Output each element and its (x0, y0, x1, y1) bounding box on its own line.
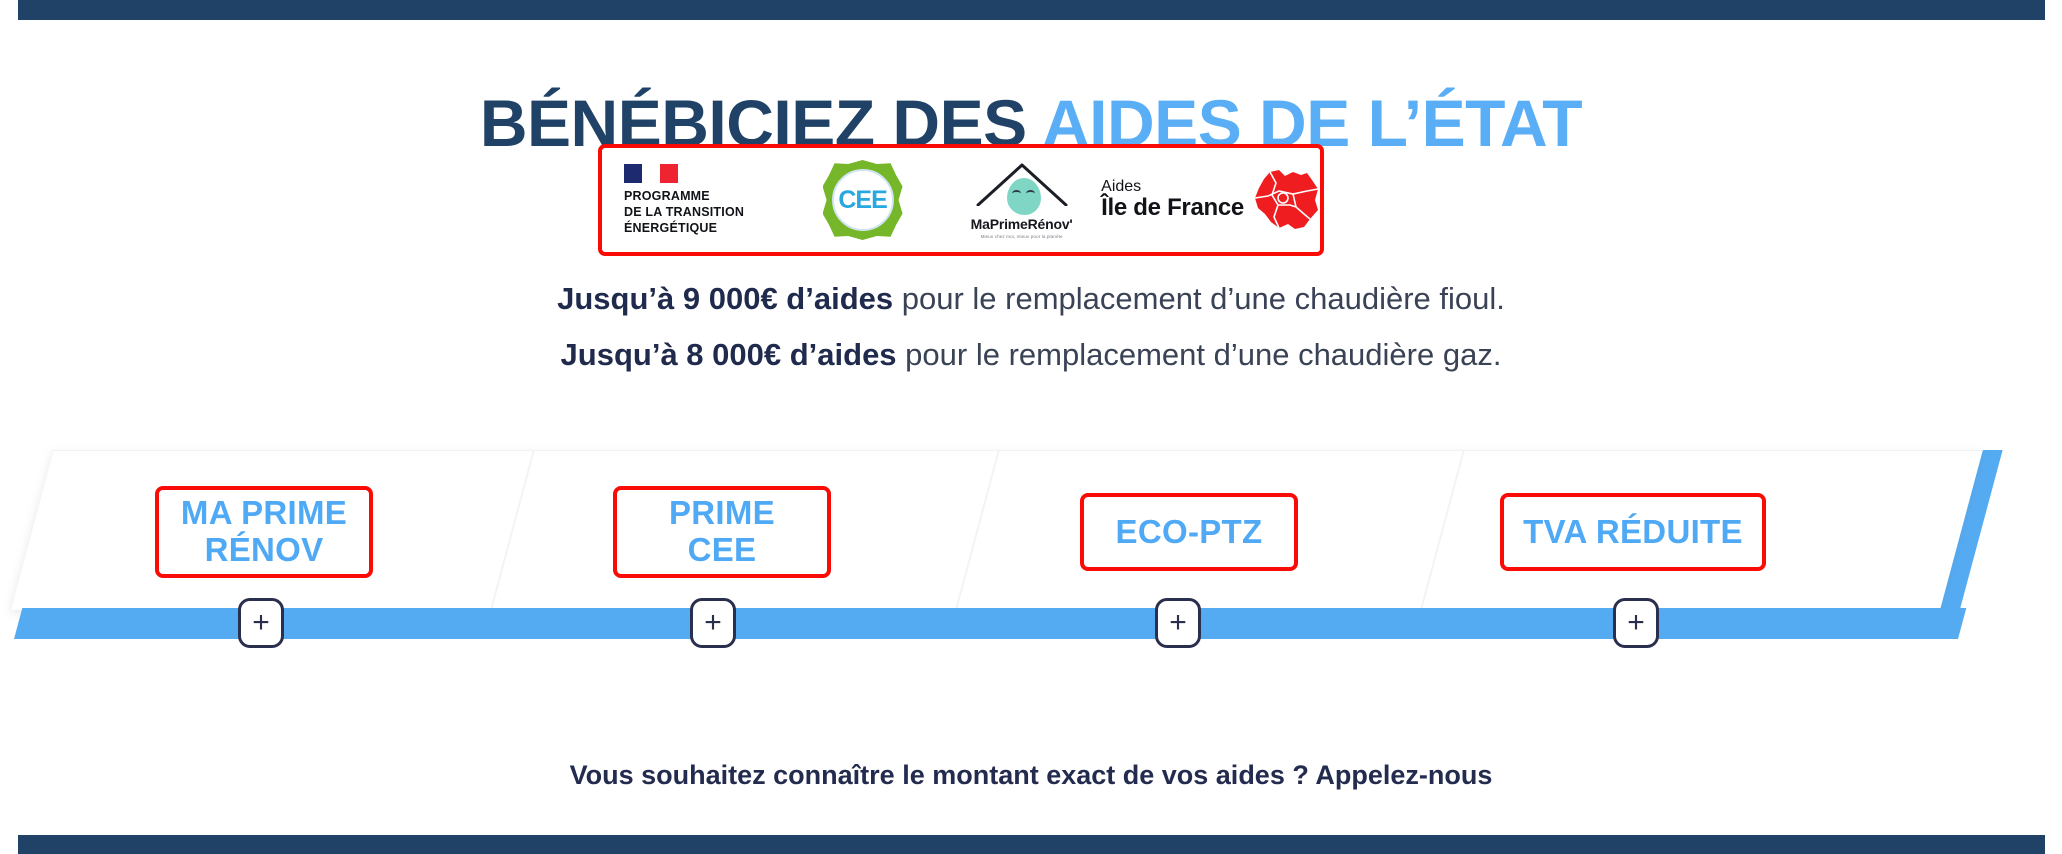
subtitle-2-amount: Jusqu’à 8 000€ d’aides (561, 337, 897, 372)
aid-option-eco-ptz[interactable]: ECO-PTZ (1080, 493, 1298, 571)
aid-option-label: PRIME CEE (669, 495, 775, 569)
aid-option-label: TVA RÉDUITE (1523, 514, 1743, 551)
programme-line-3: ÉNERGÉTIQUE (624, 220, 744, 236)
programme-transition-energetique-logo: PROGRAMME DE LA TRANSITION ÉNERGÉTIQUE (602, 148, 783, 252)
cee-badge-icon: CEE (823, 160, 903, 240)
maprimerenov-label: MaPrimeRénov' (971, 216, 1073, 232)
programme-line-1: PROGRAMME (624, 188, 744, 204)
aid-option-tva-reduite[interactable]: TVA RÉDUITE (1500, 493, 1766, 571)
expand-eco-ptz-button[interactable]: + (1155, 598, 1201, 648)
plus-icon: + (1627, 608, 1645, 638)
subtitle-line-1: Jusqu’à 9 000€ d’aides pour le remplacem… (0, 281, 2062, 317)
ribbon-blue-bar (14, 608, 1966, 639)
subtitle-1-rest: pour le remplacement d’une chaudière fio… (893, 281, 1505, 316)
maprimerenov-tagline: Mieux chez moi, mieux pour la planète (981, 234, 1063, 239)
cee-label: CEE (838, 188, 886, 213)
ile-de-france-line-1: Aides (1101, 179, 1244, 196)
aid-option-prime-cee[interactable]: PRIME CEE (613, 486, 831, 578)
ile-de-france-logo: Aides Île de France (1101, 148, 1320, 252)
aid-option-ma-prime-renov[interactable]: MA PRIME RÉNOV (155, 486, 373, 578)
programme-line-2: DE LA TRANSITION (624, 204, 744, 220)
aid-option-label: ECO-PTZ (1116, 514, 1263, 551)
plus-icon: + (252, 608, 270, 638)
maprimerenov-eye-left-icon (1012, 190, 1021, 197)
expand-prime-cee-button[interactable]: + (690, 598, 736, 648)
maprimerenov-house-icon (974, 162, 1070, 214)
bottom-divider-bar (18, 835, 2045, 854)
maprimerenov-eye-right-icon (1026, 190, 1035, 197)
subtitle-1-amount: Jusqu’à 9 000€ d’aides (557, 281, 893, 316)
contact-cta-text: Vous souhaitez connaître le montant exac… (0, 760, 2062, 791)
ile-de-france-line-2: Île de France (1101, 195, 1244, 221)
plus-icon: + (1169, 608, 1187, 638)
aids-ribbon: MA PRIME RÉNOV PRIME CEE ECO-PTZ TVA RÉD… (0, 440, 2062, 650)
partner-logo-band: PROGRAMME DE LA TRANSITION ÉNERGÉTIQUE C… (598, 144, 1324, 256)
aid-option-label: MA PRIME RÉNOV (181, 495, 347, 569)
plus-icon: + (704, 608, 722, 638)
expand-tva-reduite-button[interactable]: + (1613, 598, 1659, 648)
top-divider-bar (18, 0, 2045, 20)
subtitle-line-2: Jusqu’à 8 000€ d’aides pour le remplacem… (0, 337, 2062, 373)
expand-ma-prime-renov-button[interactable]: + (238, 598, 284, 648)
ile-de-france-map-icon (1252, 169, 1320, 231)
french-flag-icon (624, 164, 678, 183)
cee-logo: CEE (783, 148, 942, 252)
maprimerenov-logo: MaPrimeRénov' Mieux chez moi, mieux pour… (942, 148, 1101, 252)
subtitle-2-rest: pour le remplacement d’une chaudière gaz… (897, 337, 1502, 372)
